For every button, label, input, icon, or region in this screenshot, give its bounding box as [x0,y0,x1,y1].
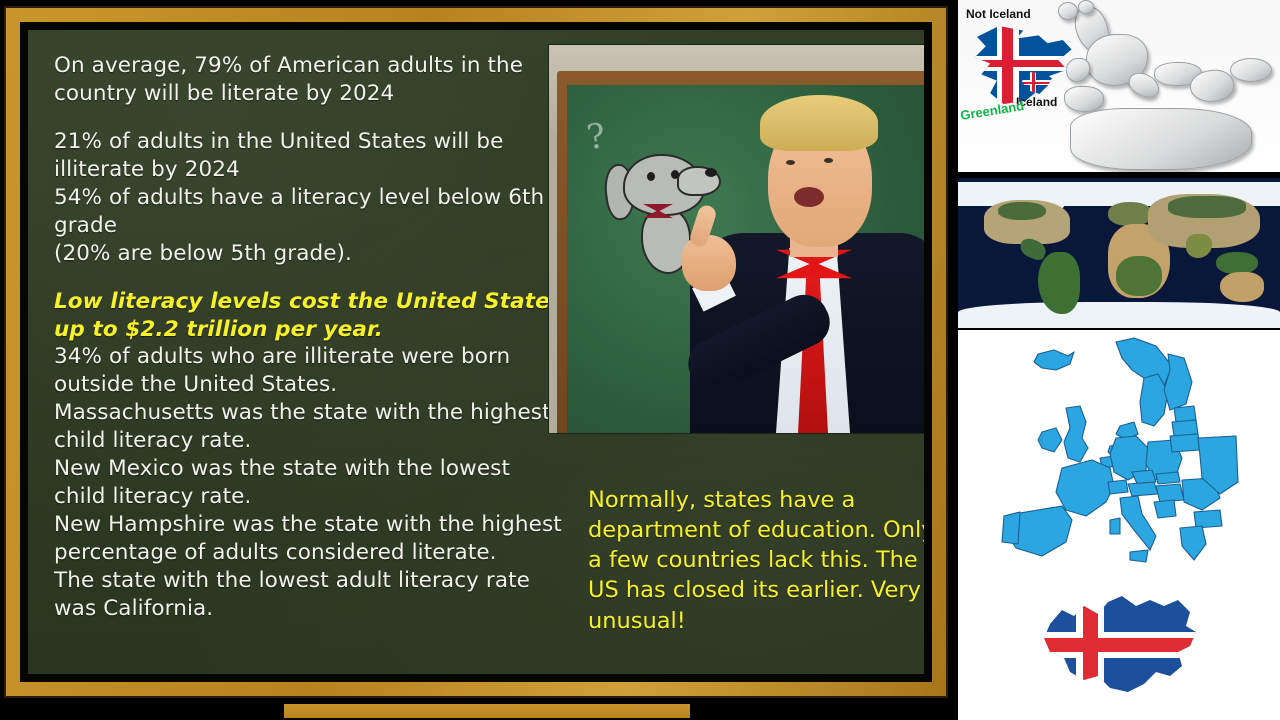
label-greenland: Greenland [959,98,1025,123]
iceland-flag-map-svg [958,580,1280,720]
country-croatia [1154,500,1176,518]
chalkboard-surface: On average, 79% of American adults in th… [28,30,924,674]
europe-countries-map [958,330,1280,580]
arctic-canada-landmass [1078,0,1094,14]
greenland-iceland-relief-map: Not Iceland Iceland Greenland [958,0,1280,172]
blond-hair [760,95,878,151]
board-line-5: 34% of adults who are illiterate were bo… [54,343,564,399]
south-america [1038,252,1080,314]
board-note-education: Normally, states have a department of ed… [588,485,924,636]
slide-canvas: On average, 79% of American adults in th… [0,0,1280,720]
country-sardinia [1110,518,1120,534]
flag-red-vertical [1083,590,1098,700]
board-highlight-cost: Low literacy levels cost the United Stat… [54,288,564,344]
country-hungary [1156,484,1184,502]
eye-right [824,158,833,163]
flag-red-horizontal [1022,82,1052,84]
flag-red-horizontal [1028,638,1208,652]
country-baltic-2 [1172,420,1198,436]
dog-eye-right [671,170,679,179]
board-line-2: 21% of adults in the United States will … [54,128,564,184]
trump-figure [690,93,924,433]
chalkboard-frame-inner: On average, 79% of American adults in th… [20,22,932,682]
country-italy [1120,496,1156,550]
svalbard-landmass [1058,2,1078,20]
country-baltic-3 [1170,434,1200,452]
north-africa-landmass [1070,108,1252,170]
country-baltic-1 [1174,406,1196,422]
australia [1220,272,1264,302]
board-line-3: 54% of adults have a literacy level belo… [54,184,564,240]
siberia-forest [1168,196,1246,218]
country-bulgaria [1194,510,1222,528]
country-france [1056,460,1114,516]
pointing-hand [682,235,736,291]
country-austria [1128,482,1158,496]
board-text-block: On average, 79% of American adults in th… [54,52,564,623]
board-line-6: Massachusetts was the state with the hig… [54,399,564,455]
dog-eye-left [647,172,655,181]
spacer [54,268,564,288]
antarctic-ice-cap [958,302,1280,328]
board-line-9: The state with the lowest adult literacy… [54,567,564,623]
caspian-region-landmass [1230,58,1272,82]
next-slide-edge[interactable] [282,702,692,720]
greenland-flag-overlay [966,26,1076,104]
label-not-iceland: Not Iceland [966,7,1031,21]
chalkboard-frame: On average, 79% of American adults in th… [4,6,948,698]
iceland-flag-map [958,580,1280,720]
europe [1108,202,1152,226]
iberia-landmass [1064,86,1104,112]
board-line-4: (20% are below 5th grade). [54,240,564,268]
country-ireland [1038,428,1062,452]
board-line-7: New Mexico was the state with the lowest… [54,455,564,511]
flag-red-horizontal [966,60,1076,68]
trump-chalkboard-photo: ? [548,44,924,434]
panel-divider [948,0,958,720]
eye-left [786,160,795,165]
country-slovakia [1156,472,1180,484]
board-line-1: On average, 79% of American adults in th… [54,52,564,108]
north-america-forest [998,202,1046,220]
flag-red-vertical [1002,26,1013,104]
country-uk [1064,406,1088,462]
sahel-green [1116,256,1162,296]
europe-map-svg [958,330,1280,580]
country-switzerland [1108,480,1128,494]
board-line-8: New Hampshire was the state with the hig… [54,511,564,567]
relief-landmasses: Not Iceland Iceland Greenland [958,0,1280,172]
country-portugal [1002,512,1020,544]
satellite-world-map [958,178,1280,328]
country-iceland [1034,350,1074,370]
spacer [54,108,564,128]
flag-red-vertical [1032,72,1035,94]
southeast-asia-islands [1216,252,1258,274]
country-sicily [1130,550,1148,562]
open-mouth [794,187,824,207]
country-greece [1180,526,1206,560]
british-isles-landmass [1066,58,1090,82]
